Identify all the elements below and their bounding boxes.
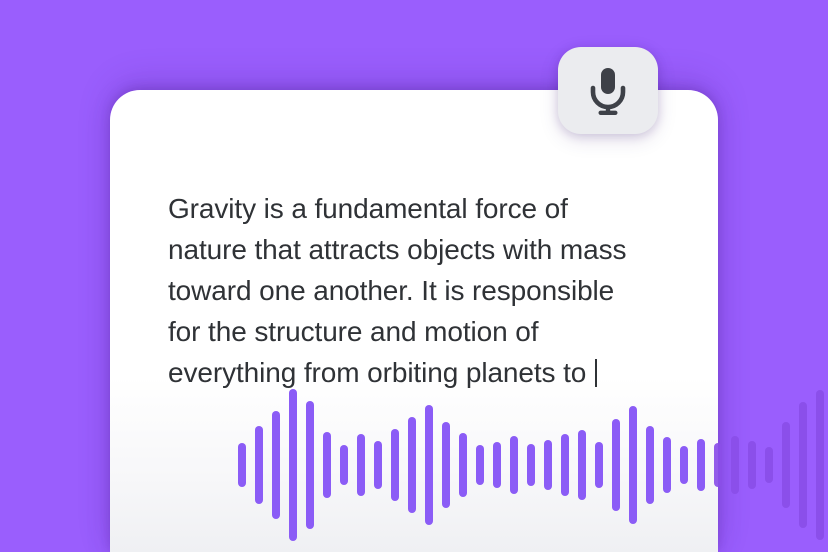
microphone-icon: [586, 66, 630, 116]
microphone-button[interactable]: [558, 47, 658, 134]
transcript-line-5-text: everything from orbiting planets to: [168, 357, 586, 388]
transcription-card: Gravity is a fundamental force of nature…: [110, 90, 718, 552]
transcript-line-1-text: Gravity is a fundamental force of: [168, 193, 568, 224]
transcript-line-3: toward one another. It is responsible: [168, 270, 688, 311]
transcript-text-block[interactable]: Gravity is a fundamental force of nature…: [168, 188, 688, 393]
screen-root: Gravity is a fundamental force of nature…: [0, 0, 828, 552]
transcript-line-2-text: nature that attracts objects with mass: [168, 234, 626, 265]
transcript-line-4: for the structure and motion of: [168, 311, 688, 352]
transcript-line-4-text: for the structure and motion of: [168, 316, 538, 347]
transcript-line-1: Gravity is a fundamental force of: [168, 188, 688, 229]
text-caret: [595, 359, 597, 387]
transcript-line-2: nature that attracts objects with mass: [168, 229, 688, 270]
transcript-line-5: everything from orbiting planets to: [168, 352, 688, 393]
transcript-line-3-text: toward one another. It is responsible: [168, 275, 614, 306]
